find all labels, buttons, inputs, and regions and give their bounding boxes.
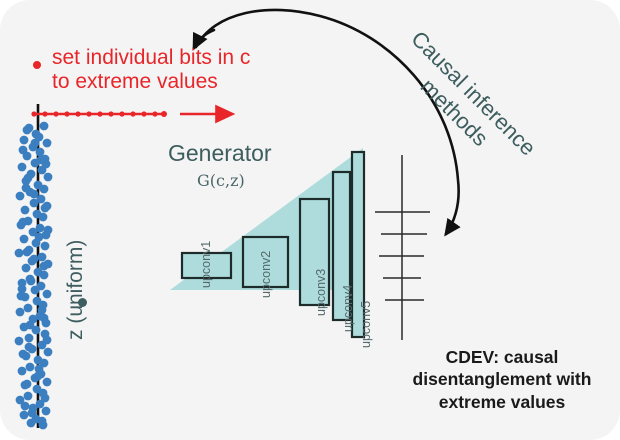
latent-scatter-points xyxy=(15,122,53,430)
latent-axis-label: z (uniform) xyxy=(64,170,88,340)
cdev-caption: CDEV: causal disentanglement with extrem… xyxy=(396,346,608,413)
layer-label-upconv2: upconv2 xyxy=(259,251,273,298)
layer-label-upconv4: upconv4 xyxy=(341,285,355,332)
figure-canvas: set individual bits in cto extreme value… xyxy=(0,0,620,440)
layer-label-upconv1: upconv1 xyxy=(199,241,213,288)
generator-title: Generator xyxy=(168,141,272,167)
layer-label-upconv3: upconv3 xyxy=(314,269,328,316)
callout-bullet-icon xyxy=(33,61,41,69)
generator-subtitle: G(c,z) xyxy=(197,172,245,190)
output-axis xyxy=(375,155,430,340)
layer-label-upconv5: upconv5 xyxy=(359,301,373,348)
latent-axis-label-wrapper: z (uniform) xyxy=(64,0,90,170)
